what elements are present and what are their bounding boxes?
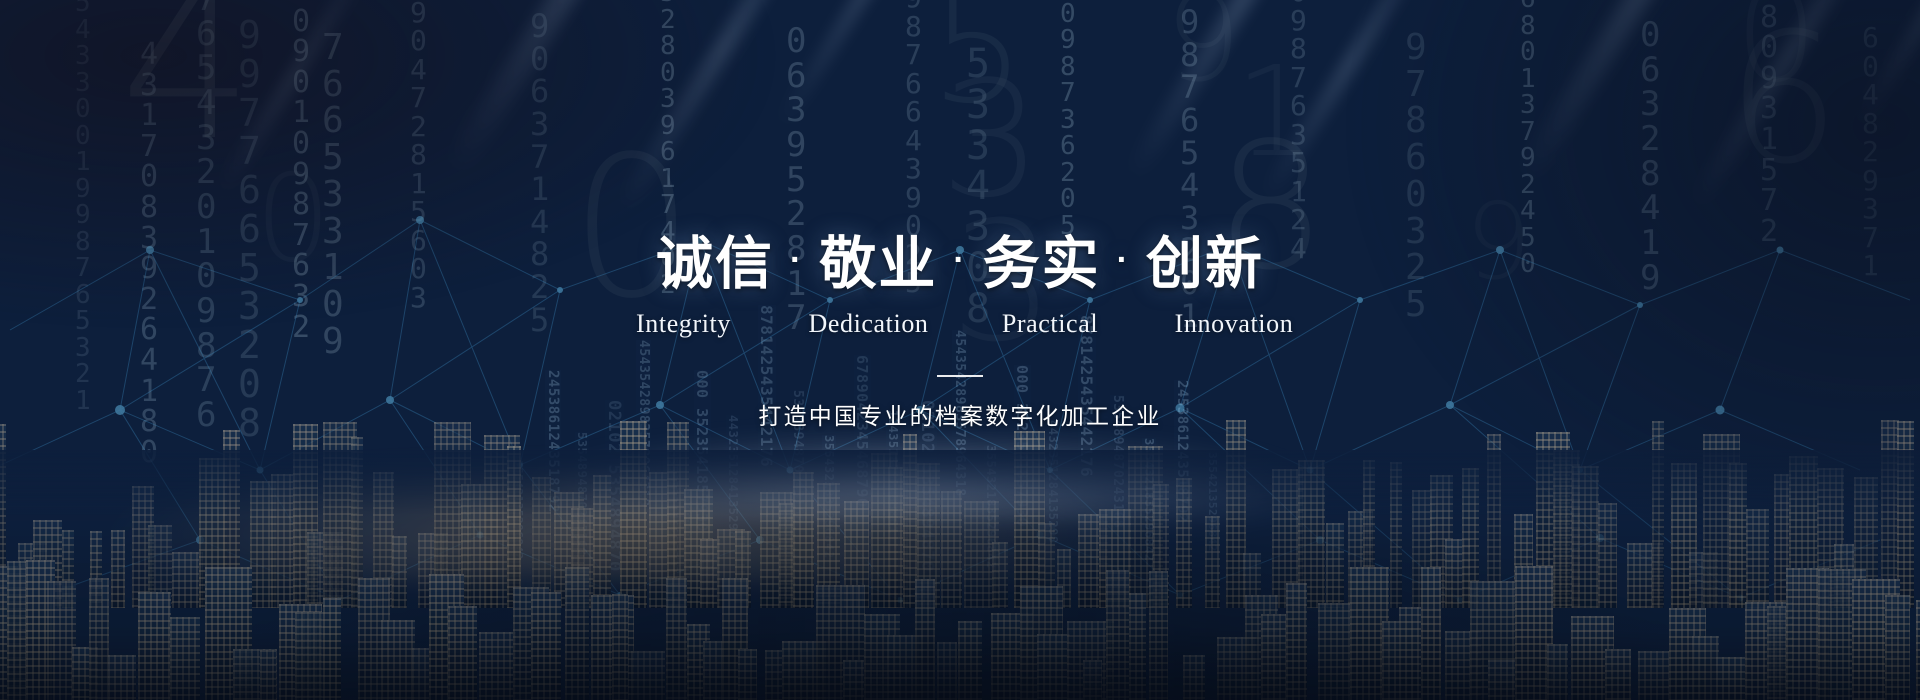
- subheadline-word-dedication: Dedication: [776, 309, 961, 339]
- ghost-digit: 3: [940, 60, 1042, 220]
- digit-column: 4 0 9 8 7 3 6 2 0 5 1: [1060, 0, 1076, 266]
- light-streak: [215, 0, 384, 196]
- headline-separator-3: ·: [1101, 241, 1146, 279]
- subheadline: IntegrityDedicationPracticalInnovation: [0, 309, 1920, 339]
- divider-rule: [937, 375, 983, 377]
- ghost-digit: 4: [120, 0, 254, 170]
- light-streak: [1512, 0, 1808, 189]
- hero-banner: 405331890609 5 4 3 3 0 0 1 9 9 8 7 6 5 3…: [0, 0, 1920, 700]
- ghost-digit: 1: [1235, 50, 1315, 175]
- light-streak: [441, 0, 739, 180]
- light-streak: [1687, 0, 1913, 213]
- headline-separator-2: ·: [937, 241, 982, 279]
- subheadline-word-practical: Practical: [961, 309, 1139, 339]
- headline-word-4: 创新: [1146, 232, 1264, 296]
- headline: 诚信·敬业·务实·创新: [0, 236, 1920, 293]
- digit-column: 6 8 0 9 3 1 5 7 2: [1760, 0, 1778, 247]
- ghost-digit: 5: [930, 0, 1025, 125]
- ghost-digit: 9: [1165, 0, 1241, 100]
- banner-content: 诚信·敬业·务实·创新 IntegrityDedicationPractical…: [0, 236, 1920, 431]
- light-streak: [1852, 0, 1920, 130]
- headline-word-3: 务实: [983, 232, 1101, 296]
- headline-word-1: 诚信: [656, 232, 774, 296]
- subheadline-word-innovation: Innovation: [1139, 309, 1329, 339]
- digit-column: 0 9 8 7 6 3 5 1 2 4: [1290, 0, 1307, 263]
- light-streak: [1122, 0, 1388, 185]
- ghost-digit: 0: [1735, 0, 1818, 100]
- light-streak: [773, 0, 986, 132]
- subheadline-word-integrity: Integrity: [591, 309, 776, 339]
- light-streak: [613, 0, 856, 216]
- headline-separator-1: ·: [774, 241, 819, 279]
- tagline: 打造中国专业的档案数字化加工企业: [0, 397, 1920, 431]
- ghost-digit: 6: [1726, 10, 1841, 190]
- city-haze: [0, 450, 1920, 700]
- light-streak: [1258, 0, 1461, 204]
- headline-word-2: 敬业: [819, 232, 937, 296]
